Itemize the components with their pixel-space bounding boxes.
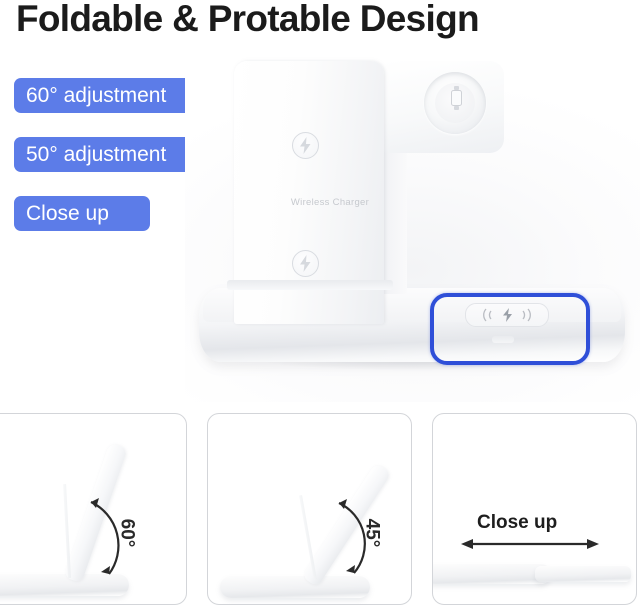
bolt-glyph — [299, 137, 312, 154]
detail-tile-angle-45: 45° — [207, 413, 412, 605]
watch-icon — [451, 90, 462, 106]
wireless-pad-highlight — [430, 293, 590, 365]
detail-tile-angle-60: 60° — [0, 413, 187, 605]
bolt-glyph — [299, 255, 312, 272]
badge-60-degree-adjustment: 60° adjustment — [14, 78, 203, 113]
charging-bolt-icon-bottom — [292, 250, 319, 277]
close-up-label: Close up — [477, 512, 557, 534]
angle-arrow-45 — [208, 414, 412, 605]
close-up-arrow — [433, 414, 637, 605]
tile-illustration-45: 45° — [208, 414, 411, 604]
page-title: Foldable & Protable Design — [16, 0, 479, 40]
angle-label-45: 45° — [360, 519, 382, 548]
charger-panel-slot — [227, 280, 393, 290]
angle-label-60: 60° — [115, 519, 137, 548]
hero-product-image: Wireless Charger — [185, 52, 640, 402]
badge-50-degree-adjustment: 50° adjustment — [14, 137, 203, 172]
tile-illustration-close-up: Close up — [433, 414, 636, 604]
detail-tiles: 60° 45° Close up — [0, 405, 640, 598]
product-label: Wireless Charger — [270, 197, 390, 208]
angle-arrow-60 — [0, 414, 187, 605]
charger-arm-column — [383, 144, 407, 294]
charging-bolt-icon-top — [292, 132, 319, 159]
tile-illustration-60: 60° — [0, 414, 186, 604]
badge-close-up: Close up — [14, 196, 150, 231]
detail-tile-close-up: Close up — [432, 413, 637, 605]
